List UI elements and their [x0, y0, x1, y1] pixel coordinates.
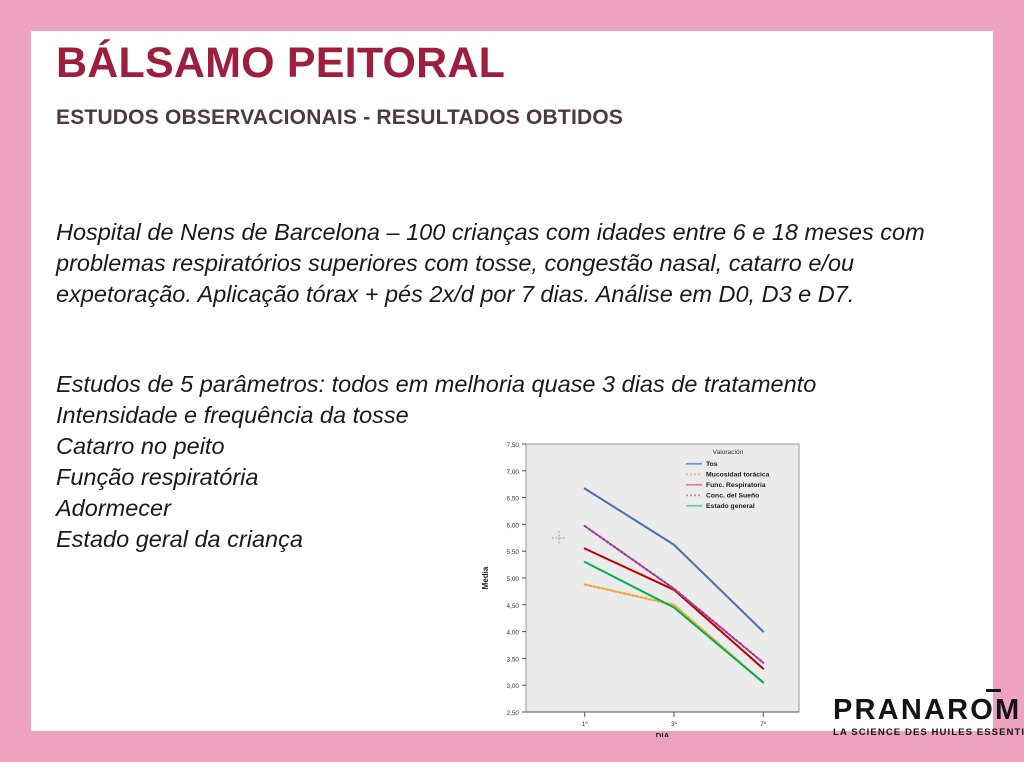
legend-label-4: Estado general	[706, 503, 755, 510]
y-axis-tick-label: 5,50	[507, 549, 520, 556]
list-item: Função respiratória	[56, 462, 486, 493]
legend-label-0: Tos	[706, 461, 718, 468]
x-axis-tick-label: 1º	[582, 721, 589, 728]
x-axis-tick-label: 3º	[671, 721, 678, 728]
legend-label-3: Conc. del Sueño	[706, 493, 759, 500]
logo-wordmark-text: PRANAROM	[833, 694, 1021, 726]
legend-label-1: Mucosidad torácica	[706, 472, 770, 479]
page-subtitle: ESTUDOS OBSERVACIONAIS - RESULTADOS OBTI…	[56, 106, 623, 130]
logo-wordmark: PRANAROM	[833, 695, 1021, 726]
study-description: Hospital de Nens de Barcelona – 100 cria…	[56, 217, 976, 310]
legend-title: Valoración	[713, 449, 744, 456]
chart-canvas: 7,507,006,506,005,505,004,504,003,503,00…	[470, 407, 815, 737]
slide-canvas: BÁLSAMO PEITORAL ESTUDOS OBSERVACIONAIS …	[31, 31, 993, 731]
parameters-heading: Estudos de 5 parâmetros: todos em melhor…	[56, 369, 696, 400]
y-axis-tick-label: 5,00	[507, 576, 520, 583]
y-axis-title: Media	[481, 566, 490, 589]
list-item: Estado geral da criança	[56, 524, 486, 555]
page-title: BÁLSAMO PEITORAL	[56, 39, 505, 88]
slide-frame: BÁLSAMO PEITORAL ESTUDOS OBSERVACIONAIS …	[0, 0, 1024, 762]
y-axis-tick-label: 6,00	[507, 522, 520, 529]
logo-macron-icon	[986, 689, 1001, 692]
logo-tagline: LA SCIENCE DES HUILES ESSENTIELLES	[833, 727, 1003, 738]
y-axis-tick-label: 7,00	[507, 469, 520, 476]
x-axis-title: DIA	[656, 732, 670, 737]
results-line-chart: 7,507,006,506,005,505,004,504,003,503,00…	[470, 407, 815, 737]
list-item: Adormecer	[56, 493, 486, 524]
parameters-list: Intensidade e frequência da tosse Catarr…	[56, 400, 486, 555]
y-axis-tick-label: 6,50	[507, 496, 520, 503]
list-item: Catarro no peito	[56, 431, 486, 462]
y-axis-tick-label: 2,50	[507, 710, 520, 717]
pranarom-logo: PRANAROM LA SCIENCE DES HUILES ESSENTIEL…	[833, 695, 1003, 745]
y-axis-tick-label: 3,50	[507, 656, 520, 663]
y-axis-tick-label: 4,50	[507, 603, 520, 610]
x-axis-tick-label: 7º	[760, 721, 767, 728]
legend-label-2: Func. Respiratoria	[706, 482, 766, 489]
y-axis-tick-label: 7,50	[507, 442, 520, 449]
list-item: Intensidade e frequência da tosse	[56, 400, 486, 431]
y-axis-tick-label: 4,00	[507, 630, 520, 637]
y-axis-tick-label: 3,00	[507, 683, 520, 690]
